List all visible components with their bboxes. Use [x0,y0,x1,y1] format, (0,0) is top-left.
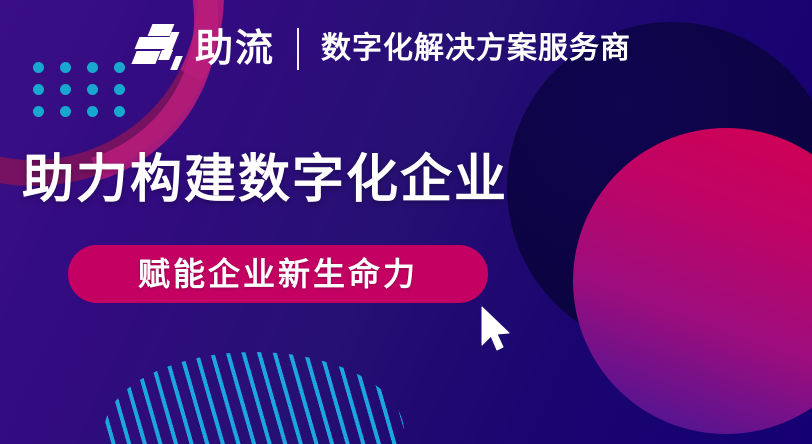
dot-decor [33,106,44,117]
cta-button[interactable]: 赋能企业新生命力 [68,245,488,303]
brand-name: 助流 [195,30,275,68]
dot-grid-decor-icon [33,62,141,128]
dot-decor [114,62,125,73]
dot-decor [114,106,125,117]
dot-decor [114,84,125,95]
promo-banner: 助流 数字化解决方案服务商 助力构建数字化企业 赋能企业新生命力 [0,0,812,444]
dot-decor [87,106,98,117]
lightning-bolt-logo-icon [133,23,189,75]
dot-decor [87,84,98,95]
dot-decor [60,106,71,117]
page-title: 助力构建数字化企业 [22,152,508,209]
banner-header: 助流 数字化解决方案服务商 [133,20,631,78]
striped-arc-decor-icon [104,352,404,444]
cta-button-label: 赋能企业新生命力 [138,258,418,290]
mouse-pointer-icon [479,305,513,353]
vertical-divider [297,28,299,70]
dot-decor [60,84,71,95]
dot-decor [60,62,71,73]
brand-tagline: 数字化解决方案服务商 [321,34,631,64]
dot-decor [33,62,44,73]
dot-decor [87,62,98,73]
dot-decor [33,84,44,95]
